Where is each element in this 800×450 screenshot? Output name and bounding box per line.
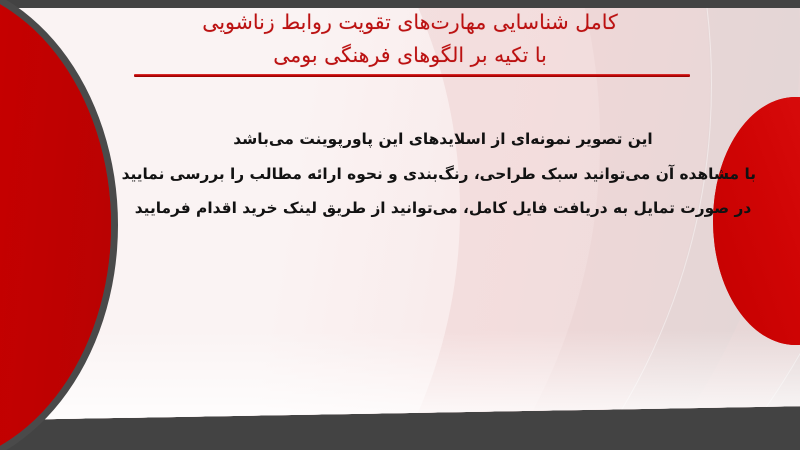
slide-title-line-2: با تکیه بر الگوهای فرهنگی بومی — [130, 39, 690, 72]
title-underline-rule — [134, 74, 690, 77]
slide-content: کامل شناسایی مهارت‌های تقویت روابط زناشو… — [0, 0, 800, 450]
slide-title: کامل شناسایی مهارت‌های تقویت روابط زناشو… — [130, 6, 690, 72]
slide-body-line-1: این تصویر نمونه‌ای از اسلایدهای این پاور… — [130, 122, 756, 157]
slide-canvas: کامل شناسایی مهارت‌های تقویت روابط زناشو… — [0, 0, 800, 450]
slide-body-line-2: با مشاهده آن می‌توانید سبک طراحی، رنگ‌بن… — [130, 157, 756, 192]
slide-body: این تصویر نمونه‌ای از اسلایدهای این پاور… — [130, 122, 756, 226]
slide-title-line-1: کامل شناسایی مهارت‌های تقویت روابط زناشو… — [130, 6, 690, 39]
slide-body-line-3: در صورت تمایل به دریافت فایل کامل، می‌تو… — [130, 191, 756, 226]
